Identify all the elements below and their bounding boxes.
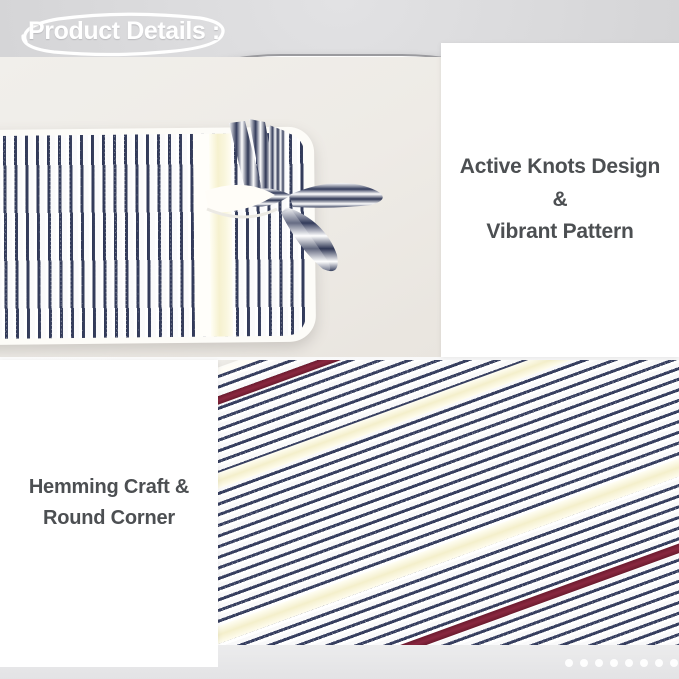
pagination-dot[interactable] xyxy=(580,659,588,667)
caption-panel-foot xyxy=(0,645,218,667)
caption-panel-active-knots: Active Knots Design & Vibrant Pattern xyxy=(441,43,679,357)
caption-line-2: Round Corner xyxy=(43,507,175,529)
caption-panel-hemming-craft: Hemming Craft & Round Corner xyxy=(0,360,218,645)
pagination-dot[interactable] xyxy=(640,659,648,667)
pagination-dot[interactable] xyxy=(610,659,618,667)
caption-line-1: Hemming Craft & xyxy=(29,476,189,498)
pagination-dot[interactable] xyxy=(625,659,633,667)
pagination-dot[interactable] xyxy=(670,659,678,667)
tie-bow-icon xyxy=(205,117,420,307)
pagination-dots[interactable] xyxy=(565,659,679,667)
cushion-angled-view xyxy=(218,360,679,645)
caption-text: Active Knots Design & Vibrant Pattern xyxy=(441,151,679,249)
caption-line-2: Vibrant Pattern xyxy=(486,220,633,243)
photo-hemming-craft xyxy=(218,360,679,645)
page-title: Product Details : xyxy=(28,17,220,46)
pagination-dot[interactable] xyxy=(595,659,603,667)
caption-line-1: Active Knots Design & xyxy=(460,155,660,211)
photo-active-knots xyxy=(0,57,441,357)
pagination-dot[interactable] xyxy=(565,659,573,667)
page-title-group: Product Details : xyxy=(14,12,244,54)
product-details-image: Active Knots Design & Vibrant Pattern He… xyxy=(0,0,679,679)
pagination-dot[interactable] xyxy=(655,659,663,667)
caption-text: Hemming Craft & Round Corner xyxy=(19,472,199,534)
hem-edge-stitching xyxy=(218,360,679,645)
